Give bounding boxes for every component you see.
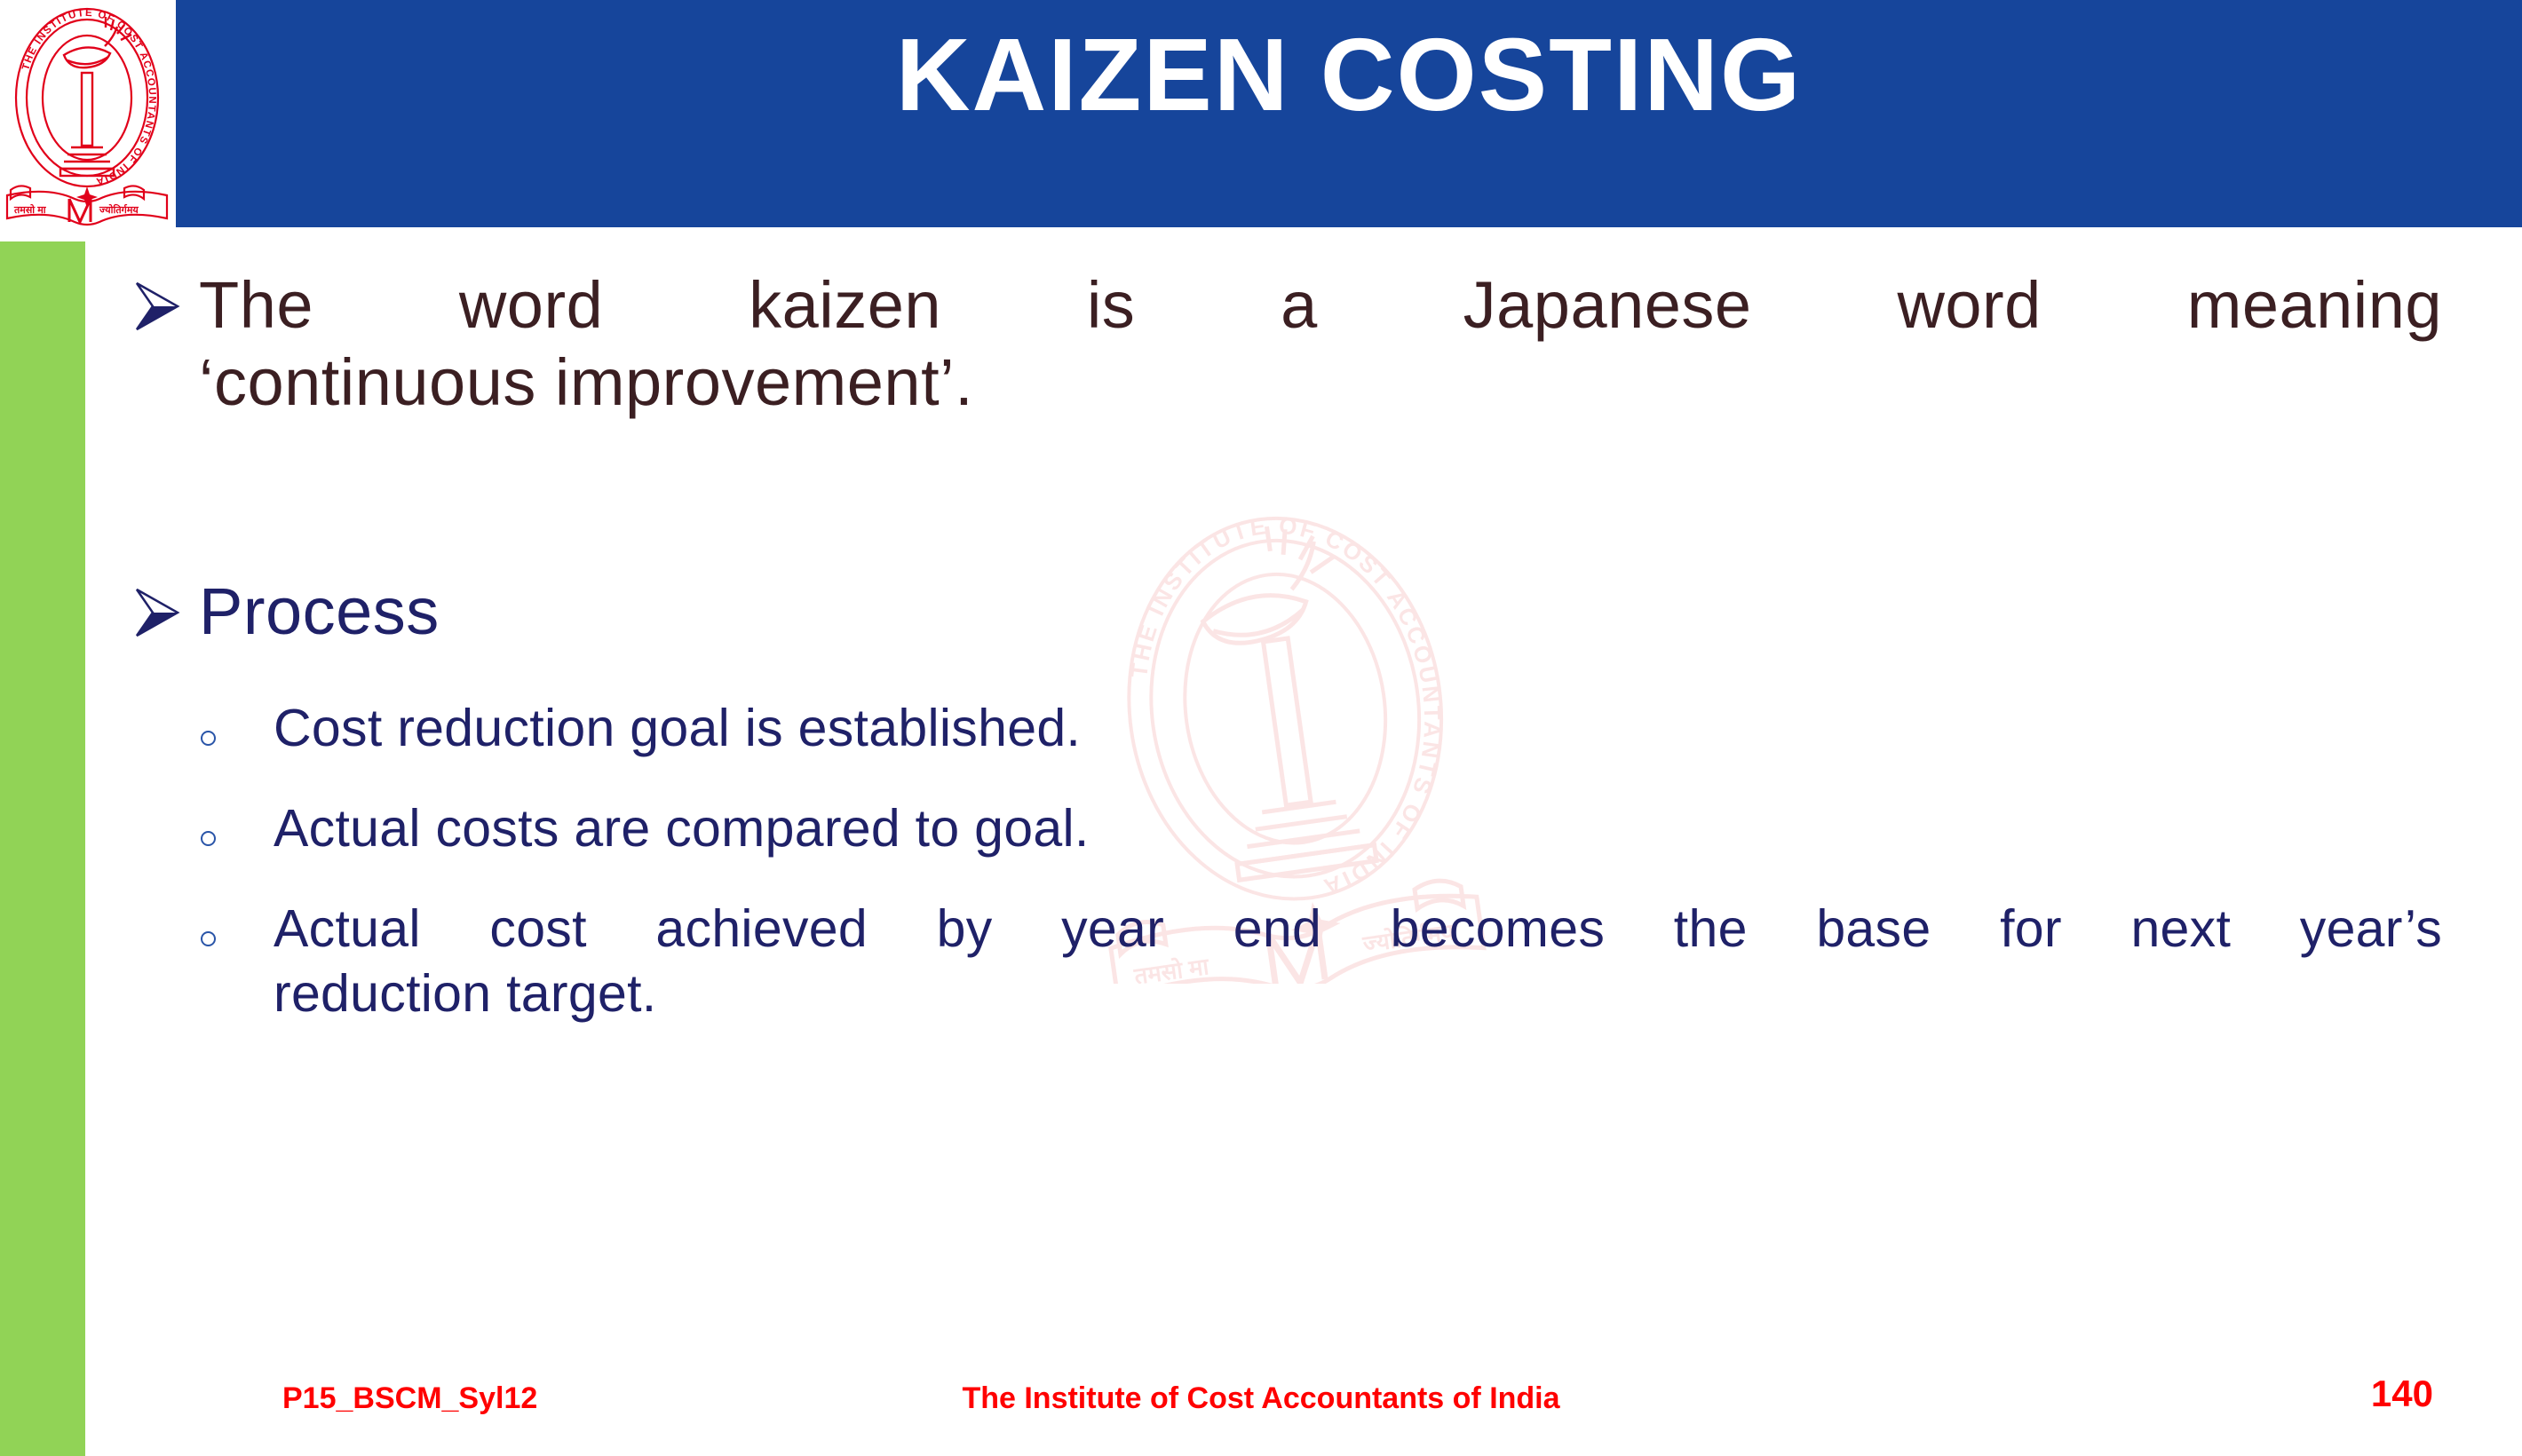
sub-bullet-item-1: Cost reduction goal is established. <box>201 696 2442 761</box>
arrow-bullet-icon <box>133 573 199 638</box>
sub-bullet-item-2: Actual costs are compared to goal. <box>201 796 2442 861</box>
page-number: 140 <box>2371 1373 2433 1415</box>
sub-bullet-item-3: Actual cost achieved by year end becomes… <box>201 897 2442 1026</box>
sub-bullet-3-line-1: Actual cost achieved by year end becomes… <box>274 897 2442 961</box>
left-accent-bar <box>0 241 85 1456</box>
sub-bullet-2-text: Actual costs are compared to goal. <box>274 796 2442 861</box>
sub-bullet-list: Cost reduction goal is established. Actu… <box>133 696 2442 1027</box>
bullet-item-2: Process <box>133 573 2442 650</box>
page-title: KAIZEN COSTING <box>176 16 2522 134</box>
circle-bullet-icon <box>201 796 274 850</box>
arrow-bullet-icon <box>133 266 199 332</box>
title-bar: KAIZEN COSTING <box>176 0 2522 227</box>
circle-bullet-icon <box>201 897 274 950</box>
bullet-1-line-2: ‘continuous improvement’. <box>199 344 2442 421</box>
svg-text:तमसो मा: तमसो मा <box>13 203 47 216</box>
slide-body: The word kaizen is a Japanese word meani… <box>133 266 2442 1027</box>
circle-bullet-icon <box>201 696 274 749</box>
bullet-item-1: The word kaizen is a Japanese word meani… <box>133 266 2442 422</box>
svg-text:ज्योतिर्गमय: ज्योतिर्गमय <box>99 203 139 216</box>
footer-institute-name: The Institute of Cost Accountants of Ind… <box>0 1381 2522 1416</box>
bullet-1-line-1: The word kaizen is a Japanese word meani… <box>199 266 2442 344</box>
bullet-1-text: The word kaizen is a Japanese word meani… <box>199 266 2442 422</box>
sub-bullet-3-text: Actual cost achieved by year end becomes… <box>274 897 2442 1026</box>
icai-logo: तमसो मा ज्योतिर्गमय THE INSTITUTE OF COS… <box>5 2 169 234</box>
sub-bullet-1-text: Cost reduction goal is established. <box>274 696 2442 761</box>
bullet-2-text: Process <box>199 573 2442 650</box>
sub-bullet-3-line-2: reduction target. <box>274 961 2442 1026</box>
